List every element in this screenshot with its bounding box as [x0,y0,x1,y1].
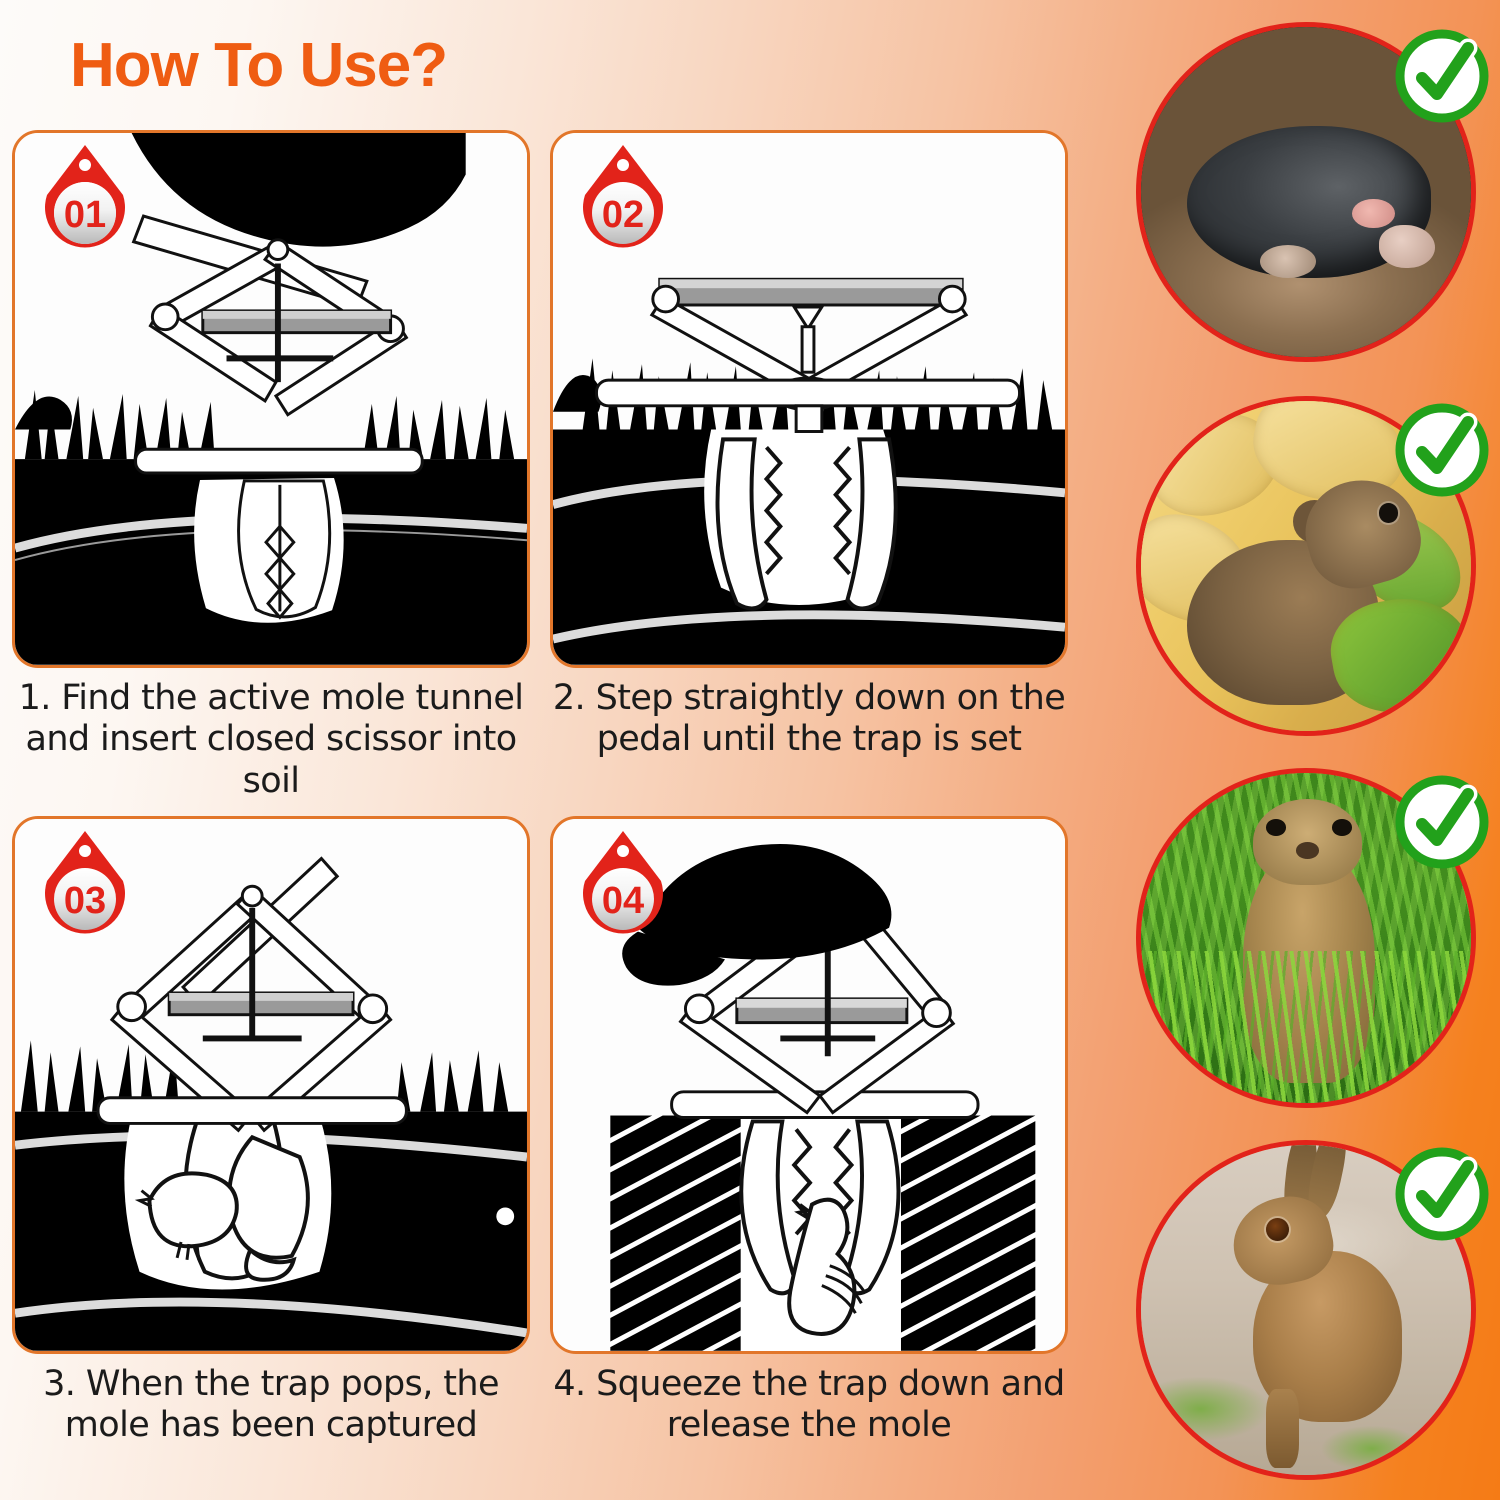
hare-eye-shape [1266,1218,1289,1241]
step-caption-4: 4. Squeeze the trap down and release the… [550,1364,1068,1447]
green-check-icon-hare [1394,1146,1490,1242]
green-check-icon-mole [1394,28,1490,124]
step-number-badge-3: 03 [37,829,133,941]
mole-paw-shape [1379,225,1435,268]
step-card-4: 04 4. Squeeze the trap down and release … [550,816,1085,1488]
step-card-2: 02 2. Step straightly down on the pedal … [550,130,1085,802]
instructions-column: How To Use? [0,0,1110,1500]
step-card-3: 03 3. When the trap pops, the mole has b… [12,816,547,1488]
hare-leg-shape [1266,1389,1299,1468]
green-check-icon-vole [1394,402,1490,498]
animal-photo-hare [1136,1140,1476,1480]
step-illustration-panel-3: 03 [12,816,530,1354]
green-check-icon-gopher [1394,774,1490,870]
animal-photo-mole [1136,22,1476,362]
mole-paw-secondary-shape [1260,245,1316,278]
step-caption-1: 1. Find the active mole tunnel and inser… [12,678,530,802]
step-number-badge-2: 02 [575,143,671,255]
step-caption-2: 2. Step straightly down on the pedal unt… [550,678,1068,761]
step-illustration-panel-2: 02 [550,130,1068,668]
animal-photo-gopher [1136,768,1476,1108]
target-animals-column [1110,0,1500,1500]
animal-photo-vole [1136,396,1476,736]
step-card-1: 01 1. Find the active mole tunnel and in… [12,130,547,802]
mole-snout-shape [1352,199,1395,229]
gopher-eye-left [1266,819,1286,836]
step-number-badge-4: 04 [575,829,671,941]
step-number-badge-1: 01 [37,143,133,255]
step-number-text-1: 01 [64,194,106,236]
step-illustration-panel-1: 01 [12,130,530,668]
page-title: How To Use? [70,30,447,101]
step-number-text-2: 02 [602,194,644,236]
step-caption-3: 3. When the trap pops, the mole has been… [12,1364,530,1447]
grass-foreground-texture [1141,951,1471,1103]
step-number-text-3: 03 [64,880,106,922]
gopher-nose-shape [1296,842,1319,859]
gopher-eye-right [1332,819,1352,836]
step-illustration-panel-4: 04 [550,816,1068,1354]
step-number-text-4: 04 [602,880,644,922]
